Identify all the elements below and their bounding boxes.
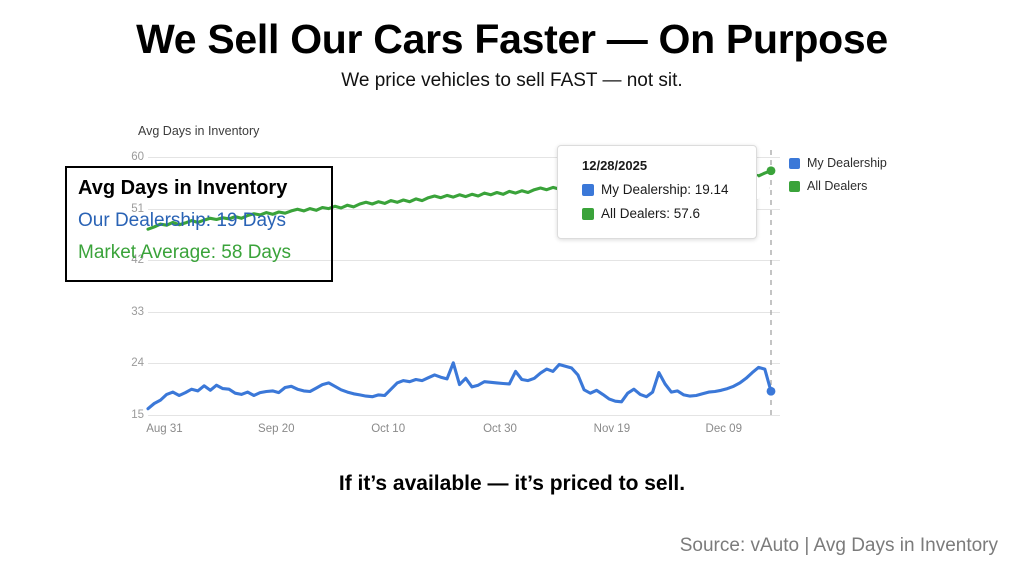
chart-legend: My DealershipAll Dealers [789,153,887,199]
legend-item-my-dealership[interactable]: My Dealership [789,153,887,173]
legend-swatch-icon [789,158,800,169]
chart-tooltip: 12/28/2025 My Dealership: 19.14 All Deal… [557,145,757,239]
closing-statement: If it’s available — it’s priced to sell. [0,472,1024,496]
source-attribution: Source: vAuto | Avg Days in Inventory [680,535,998,557]
series-endpoint-all-dealers [767,166,776,175]
tooltip-row-all-dealers: All Dealers: 57.6 [582,206,700,221]
tooltip-date: 12/28/2025 [582,158,647,173]
callout-title: Avg Days in Inventory [78,177,287,200]
tooltip-label-all-dealers: All Dealers: 57.6 [601,206,700,221]
legend-label: My Dealership [807,156,887,170]
page-subtitle: We price vehicles to sell FAST — not sit… [0,70,1024,92]
series-line-my-dealership [148,363,771,409]
legend-label: All Dealers [807,179,867,193]
slide-canvas: We Sell Our Cars Faster — On Purpose We … [0,0,1024,576]
callout-box: Avg Days in Inventory Our Dealership: 19… [65,166,333,282]
callout-market-average: Market Average: 58 Days [78,242,291,264]
legend-item-all-dealers[interactable]: All Dealers [789,176,887,196]
page-title: We Sell Our Cars Faster — On Purpose [0,16,1024,63]
tooltip-swatch-all-dealers [582,208,594,220]
legend-swatch-icon [789,181,800,192]
callout-our-dealership: Our Dealership: 19 Days [78,210,286,232]
tooltip-swatch-my-dealership [582,184,594,196]
tooltip-label-my-dealership: My Dealership: 19.14 [601,182,729,197]
series-endpoint-my-dealership [767,387,776,396]
tooltip-row-my-dealership: My Dealership: 19.14 [582,182,729,197]
